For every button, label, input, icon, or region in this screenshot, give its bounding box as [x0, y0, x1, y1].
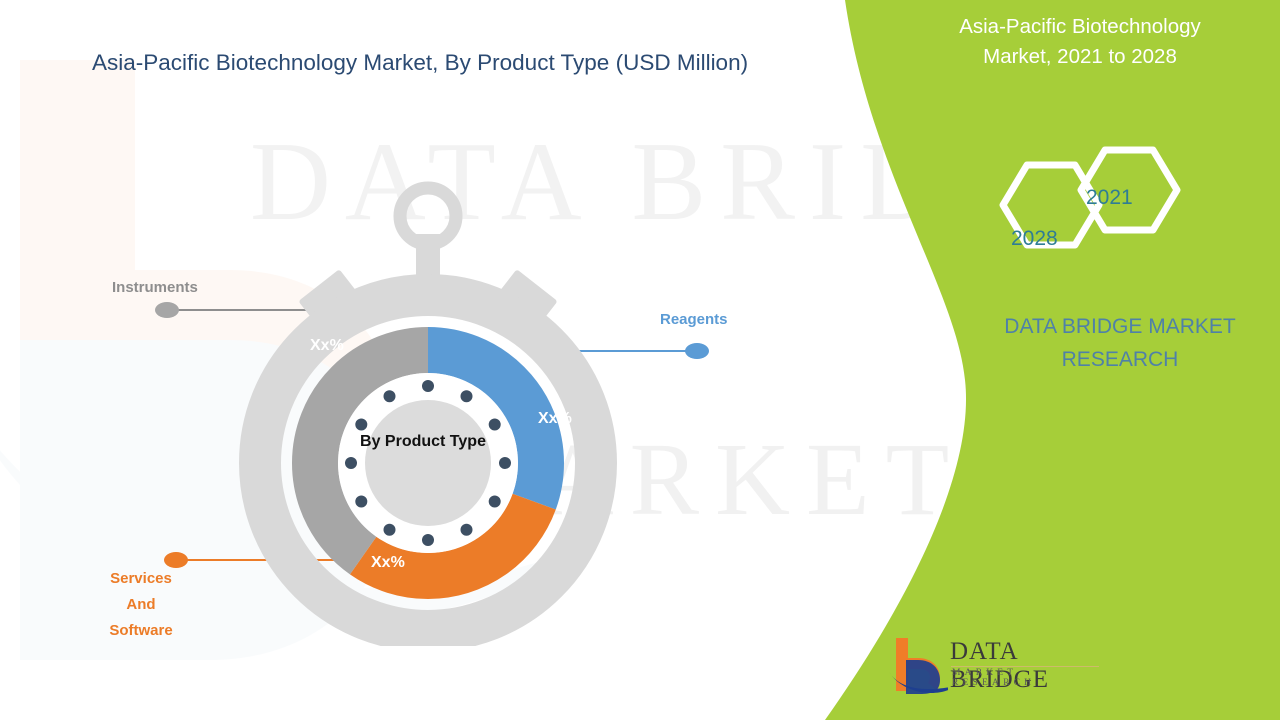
callout-label-services-and-software: Services And Software: [98, 566, 184, 644]
callout-label-reagents: Reagents: [660, 311, 728, 328]
callout-label-instruments: Instruments: [112, 279, 198, 296]
callout-leader-lines: [0, 0, 1280, 720]
infographic-canvas: DATA BRIDGE MARKET RESEARCH Asia-Pacific…: [0, 0, 1280, 720]
dial-face: [365, 400, 491, 526]
instruments-callout-dot: [155, 302, 179, 318]
slice-label-instruments: Xx%: [310, 337, 344, 355]
slice-label-services-and-software: Xx%: [371, 554, 405, 572]
chart-center-label: By Product Type: [300, 433, 546, 451]
reagents-callout-dot: [685, 343, 709, 359]
callout-services-line1: Services: [98, 566, 184, 592]
callout-services-line2: And: [98, 592, 184, 618]
callout-services-line3: Software: [98, 618, 184, 644]
slice-label-reagents: Xx%: [538, 410, 572, 428]
